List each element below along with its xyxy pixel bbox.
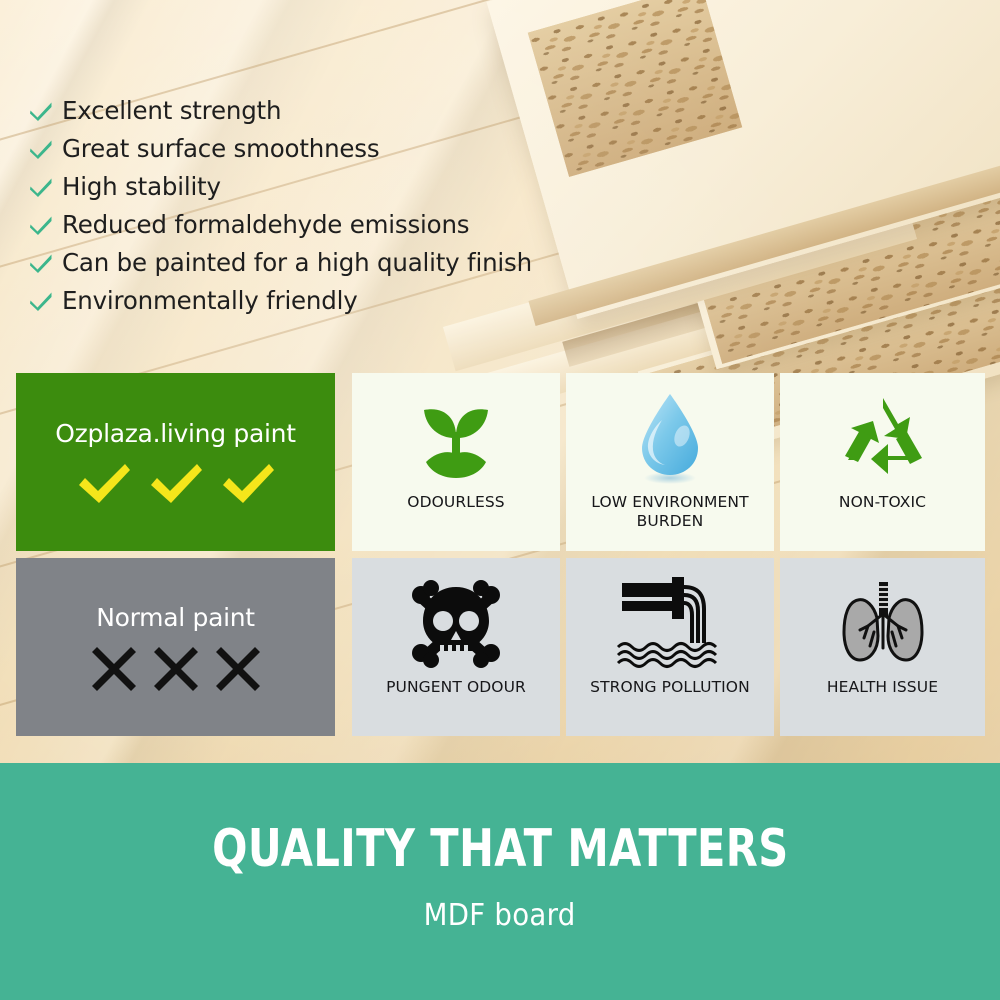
- list-item-label: Environmentally friendly: [62, 289, 358, 314]
- check-icon: [28, 136, 54, 162]
- feature-cell-label: PUNGENT ODOUR: [382, 678, 530, 697]
- feature-cell-strong-pollution: STRONG POLLUTION: [566, 558, 774, 736]
- list-item: Can be painted for a high quality finish: [28, 244, 588, 282]
- recycle-icon: [836, 387, 930, 489]
- yellow-check-icon: [220, 462, 276, 506]
- check-icon: [28, 174, 54, 200]
- feature-cell-label: NON-TOXIC: [835, 493, 930, 512]
- list-item-label: Reduced formaldehyde emissions: [62, 213, 469, 238]
- feature-cell-label: LOW ENVIRONMENT BURDEN: [566, 493, 774, 531]
- list-item: Excellent strength: [28, 92, 588, 130]
- pipe-pollution-icon: [614, 572, 726, 674]
- feature-cell-non-toxic: NON-TOXIC: [780, 373, 985, 551]
- banner-subtitle: MDF board: [424, 901, 576, 931]
- yellow-check-icon: [76, 462, 132, 506]
- feature-cell-label: ODOURLESS: [403, 493, 508, 512]
- list-item-label: High stability: [62, 175, 221, 200]
- check-icon: [28, 98, 54, 124]
- bottom-banner: QUALITY THAT MATTERS MDF board: [0, 763, 1000, 1000]
- list-item: High stability: [28, 168, 588, 206]
- yellow-check-marks: [76, 462, 276, 506]
- list-item-label: Can be painted for a high quality finish: [62, 251, 532, 276]
- check-icon: [28, 212, 54, 238]
- feature-bullet-list: Excellent strength Great surface smoothn…: [28, 92, 588, 320]
- black-cross-marks: [91, 646, 261, 692]
- yellow-check-icon: [148, 462, 204, 506]
- feature-cell-low-environment-burden: LOW ENVIRONMENT BURDEN: [566, 373, 774, 551]
- lungs-icon: [836, 572, 930, 674]
- check-icon: [28, 288, 54, 314]
- black-cross-icon: [215, 646, 261, 692]
- banner-title: QUALITY THAT MATTERS: [212, 823, 789, 875]
- list-item: Environmentally friendly: [28, 282, 588, 320]
- ozplaza-paint-label-cell: Ozplaza.living paint: [16, 373, 335, 551]
- infographic-page: Excellent strength Great surface smoothn…: [0, 0, 1000, 1000]
- normal-paint-label-cell: Normal paint: [16, 558, 335, 736]
- black-cross-icon: [153, 646, 199, 692]
- skull-crossbones-icon: [407, 572, 505, 674]
- list-item-label: Excellent strength: [62, 99, 281, 124]
- paint-comparison-grid: Ozplaza.living paint Normal paint: [16, 373, 985, 745]
- plant-sprout-icon: [410, 387, 502, 489]
- list-item: Great surface smoothness: [28, 130, 588, 168]
- feature-cell-odourless: ODOURLESS: [352, 373, 560, 551]
- feature-cell-label: HEALTH ISSUE: [823, 678, 942, 697]
- feature-cell-label: STRONG POLLUTION: [586, 678, 754, 697]
- black-cross-icon: [91, 646, 137, 692]
- list-item-label: Great surface smoothness: [62, 137, 379, 162]
- feature-cell-pungent-odour: PUNGENT ODOUR: [352, 558, 560, 736]
- feature-cell-health-issue: HEALTH ISSUE: [780, 558, 985, 736]
- ozplaza-paint-title: Ozplaza.living paint: [55, 419, 295, 448]
- water-drop-icon: [632, 387, 708, 489]
- normal-paint-title: Normal paint: [96, 603, 255, 632]
- check-icon: [28, 250, 54, 276]
- list-item: Reduced formaldehyde emissions: [28, 206, 588, 244]
